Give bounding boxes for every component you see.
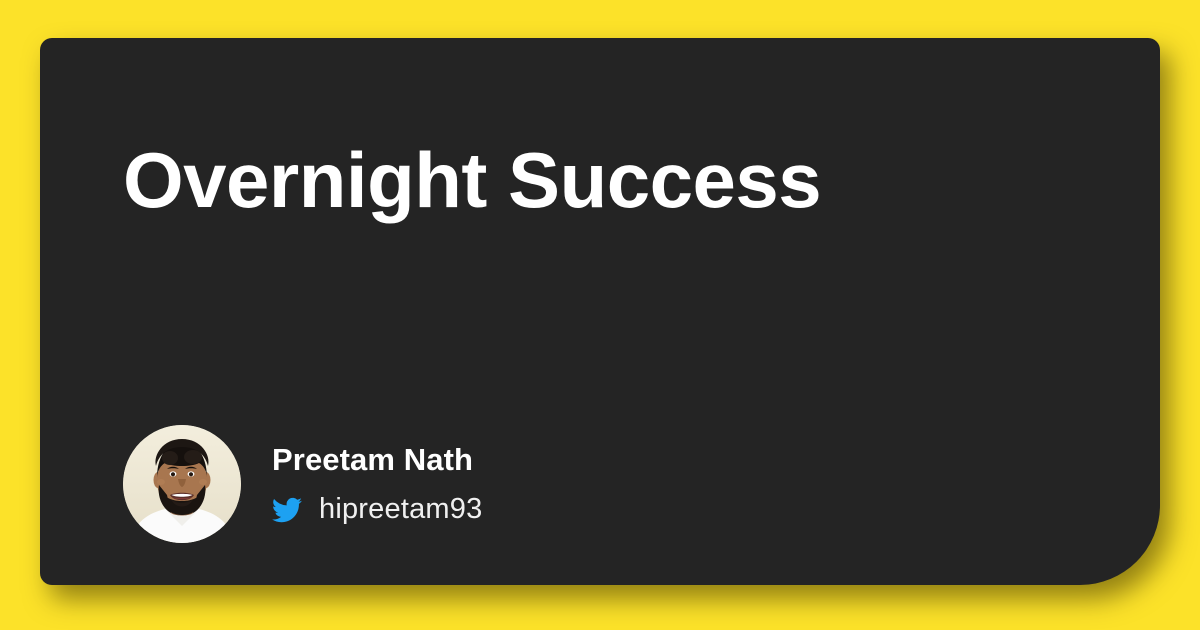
avatar xyxy=(123,425,241,543)
content-card: Overnight Success xyxy=(40,38,1160,585)
author-name: Preetam Nath xyxy=(272,443,482,477)
twitter-handle: hipreetam93 xyxy=(319,495,482,524)
author-block: Preetam Nath hipreetam93 xyxy=(123,425,482,543)
author-text-block: Preetam Nath hipreetam93 xyxy=(272,443,482,524)
og-image-canvas: Overnight Success xyxy=(0,0,1200,630)
card-inner: Overnight Success xyxy=(40,38,1160,585)
avatar-photo-icon xyxy=(123,425,241,543)
twitter-handle-row: hipreetam93 xyxy=(272,495,482,525)
twitter-icon xyxy=(272,495,302,525)
page-title: Overnight Success xyxy=(123,138,1083,222)
